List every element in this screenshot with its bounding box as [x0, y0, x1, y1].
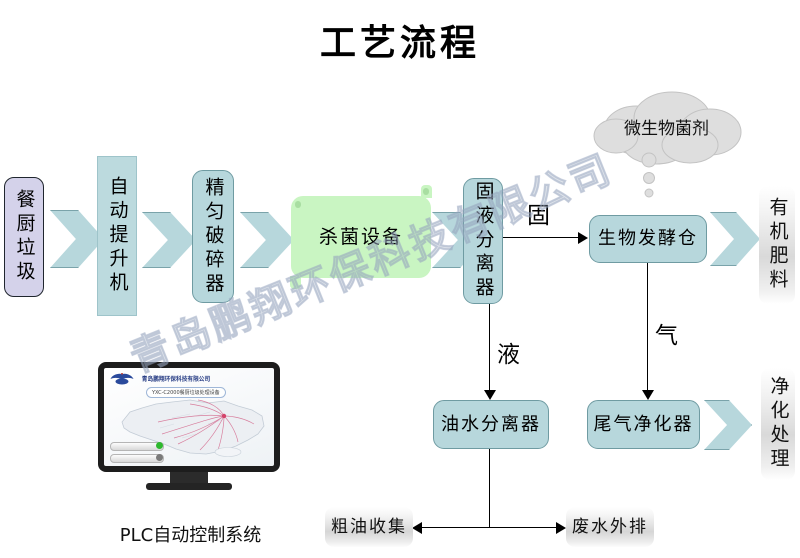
monitor-base [146, 483, 232, 490]
arrowhead-to-crude-oil [412, 522, 422, 534]
node-exhaust-purifier-label: 尾气净化器 [594, 414, 694, 436]
microbial-agent-label: 微生物菌剂 [624, 114, 709, 139]
process-flow-diagram: 工艺流程 餐厨垃圾 自动提升机 精匀破碎器 杀菌设备 固液分离器 固 生物发酵仓… [0, 0, 800, 558]
line-gas-down [647, 263, 648, 393]
monitor-bezel: 青岛鹏翔环保科技有限公司 YXC-C2000餐厨垃圾处理设备 [98, 362, 280, 472]
node-lift[interactable]: 自动提升机 [97, 156, 137, 316]
node-sterilizer[interactable]: 杀菌设备 [291, 196, 431, 278]
node-fermenter-label: 生物发酵仓 [598, 228, 698, 250]
cloud-tail-bubbles [636, 152, 662, 208]
node-crude-oil-collection-label: 粗油收集 [331, 517, 407, 537]
status-indicator-on [156, 442, 163, 449]
node-input-waste-label: 餐厨垃圾 [15, 189, 34, 285]
node-exhaust-purifier[interactable]: 尾气净化器 [587, 400, 700, 449]
node-crusher[interactable]: 精匀破碎器 [192, 170, 234, 303]
node-purification-label: 净化处理 [769, 376, 788, 472]
arrow-lift-to-crusher [142, 212, 196, 268]
node-lift-label: 自动提升机 [108, 176, 127, 296]
edge-label-gas: 气 [655, 316, 678, 350]
node-organic-fertilizer-label: 有机肥料 [768, 197, 787, 293]
node-crusher-label: 精匀破碎器 [204, 177, 223, 297]
node-oil-water-separator[interactable]: 油水分离器 [433, 400, 549, 449]
line-bottom-split [420, 527, 560, 528]
node-solid-liquid-separator-label: 固液分离器 [474, 181, 493, 301]
node-purification[interactable]: 净化处理 [761, 368, 795, 480]
plaque-tab-bottom-left [290, 276, 301, 289]
arrow-crusher-to-sterilizer [240, 212, 294, 268]
node-organic-fertilizer[interactable]: 有机肥料 [759, 186, 795, 304]
arrowhead-to-wastewater [556, 522, 566, 534]
node-wastewater-discharge-label: 废水外排 [572, 517, 648, 537]
node-solid-liquid-separator[interactable]: 固液分离器 [463, 178, 503, 304]
monitor-screen: 青岛鹏翔环保科技有限公司 YXC-C2000餐厨垃圾处理设备 [104, 368, 274, 466]
arrow-waste-to-lift [50, 210, 104, 268]
plc-caption: PLC自动控制系统 [88, 521, 293, 547]
page-title: 工艺流程 [0, 14, 800, 66]
plaque-nub-top-left [295, 201, 301, 208]
node-input-waste[interactable]: 餐厨垃圾 [4, 177, 44, 297]
monitor-company-name: 青岛鹏翔环保科技有限公司 [142, 374, 210, 383]
company-logo-icon [109, 372, 135, 386]
node-fermenter[interactable]: 生物发酵仓 [589, 215, 707, 263]
arrow-purifier-to-purification [704, 400, 752, 450]
node-oil-water-separator-label: 油水分离器 [441, 414, 541, 436]
arrowhead-solid-to-fermenter [578, 232, 588, 244]
line-oilwater-down [489, 449, 490, 527]
node-sterilizer-label: 杀菌设备 [319, 226, 403, 249]
line-solid-to-fermenter [503, 237, 579, 238]
arrowhead-liquid-down [484, 390, 496, 400]
line-liquid-down [489, 303, 490, 393]
status-indicator-off [156, 454, 163, 461]
edge-label-solid: 固 [527, 196, 550, 230]
plaque-nub-top-right [423, 188, 429, 195]
node-wastewater-discharge[interactable]: 废水外排 [566, 507, 654, 547]
arrow-fermenter-to-fertilizer [710, 212, 760, 266]
edge-label-liquid: 液 [497, 335, 520, 369]
node-crude-oil-collection[interactable]: 粗油收集 [325, 507, 413, 547]
arrowhead-gas-down [642, 390, 654, 400]
